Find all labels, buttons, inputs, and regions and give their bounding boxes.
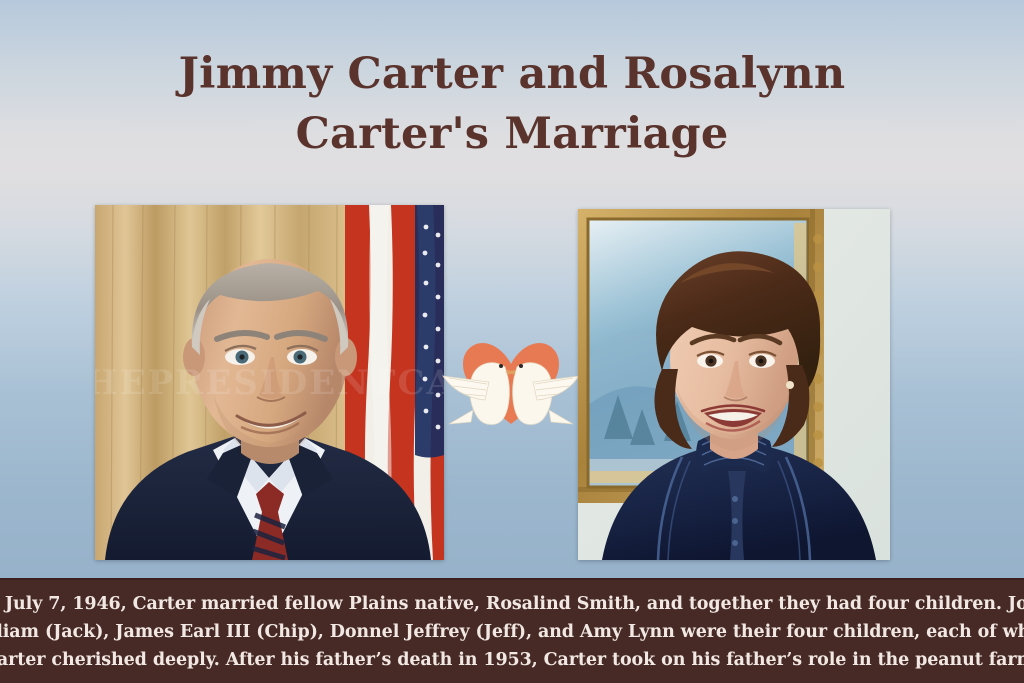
two-doves-heart-icon — [441, 326, 581, 430]
photo-jimmy-carter: THEPRESIDENTCAL — [95, 205, 444, 560]
caption-line-2: William (Jack), James Earl III (Chip), D… — [0, 618, 1024, 646]
caption-line-1: On July 7, 1946, Carter married fellow P… — [0, 590, 1024, 618]
doves-heart-svg — [441, 326, 581, 430]
page-title: Jimmy Carter and Rosalynn Carter's Marri… — [0, 44, 1024, 164]
caption-bar: On July 7, 1946, Carter married fellow P… — [0, 578, 1024, 683]
marriage-infographic-poster: Jimmy Carter and Rosalynn Carter's Marri… — [0, 0, 1024, 683]
page-title-line-1: Jimmy Carter and Rosalynn — [0, 44, 1024, 104]
jimmy-carter-portrait-illustration — [95, 205, 444, 560]
caption-line-3: Carter cherished deeply. After his fathe… — [0, 646, 1024, 674]
photo-rosalynn-carter — [578, 209, 890, 560]
page-title-line-2: Carter's Marriage — [0, 104, 1024, 164]
rosalynn-carter-portrait-illustration — [578, 209, 890, 560]
